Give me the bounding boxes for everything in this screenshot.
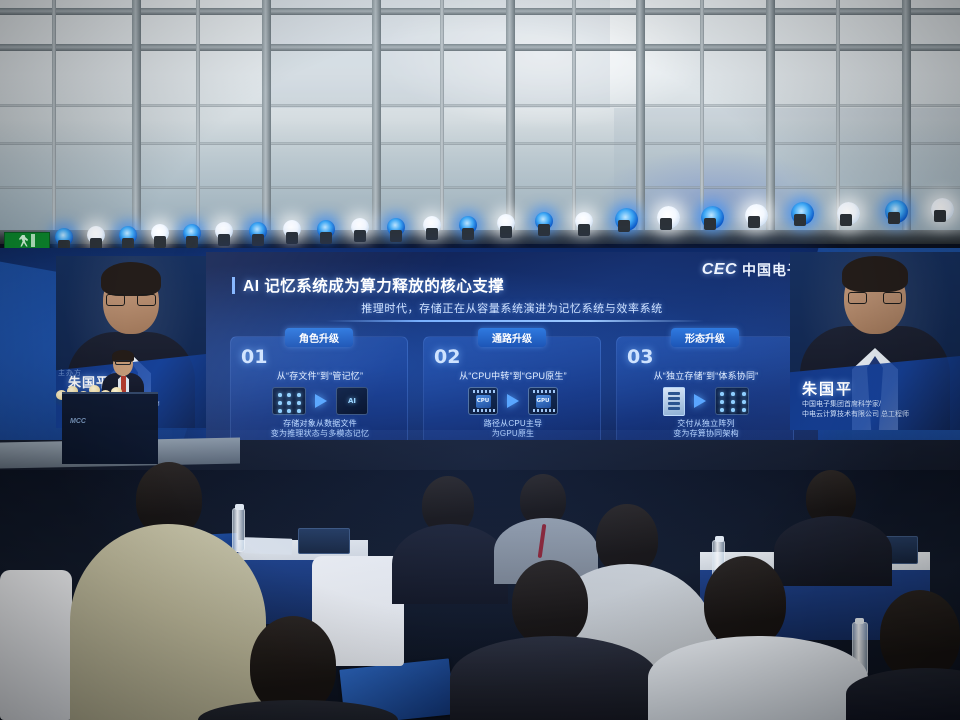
cec-logo: CEC 中国电子 (702, 260, 802, 280)
card-number: 03 (627, 346, 653, 368)
card-number: 01 (241, 346, 267, 368)
laptop (298, 528, 350, 554)
mesh-network-icon (715, 387, 749, 415)
audience-shoulders (774, 516, 892, 586)
card-number: 02 (434, 346, 460, 368)
mullion-horizontal (0, 186, 960, 189)
card-tab-label: 角色升级 (285, 328, 353, 347)
card-subtitle: 从“独立存储”到“体系协同” (617, 369, 795, 382)
running-man-icon (19, 235, 28, 247)
card-subtitle: 从“存文件”到“管记忆” (231, 369, 409, 382)
stage-light-blue (884, 198, 910, 230)
stage-light-white (282, 218, 302, 244)
mullion-horizontal (0, 104, 960, 107)
slide-cards: 角色升级 01 从“存文件”到“管记忆” AI 存储对象从数据文件变为推理状态与… (230, 336, 794, 446)
card-icon-row: AI (231, 384, 409, 418)
stage-light-white (150, 222, 170, 248)
mullion-horizontal (0, 44, 960, 51)
card-tab-label: 形态升级 (671, 328, 739, 347)
mullion-horizontal (0, 8, 960, 15)
card-tab-label: 通路升级 (478, 328, 546, 347)
stage-light-white (214, 220, 234, 246)
stage-light-blue (316, 218, 336, 244)
cpu-chip-label: CPU (476, 395, 491, 408)
audience-head (880, 590, 960, 680)
slide-card-02: 通路升级 02 从“CPU中转”到“GPU原生” CPU GPU 路径从CPU主… (423, 336, 601, 446)
stage-light-blue (248, 220, 268, 246)
stage-light-blue (118, 224, 138, 250)
speaker-hair (842, 256, 908, 292)
stage-light-white (350, 216, 370, 242)
glasses-icon (106, 294, 156, 306)
water-bottle (232, 508, 245, 552)
stage-light-white (422, 214, 442, 240)
exit-door-icon (31, 234, 35, 247)
audience-head (704, 556, 786, 648)
stage-light-white (86, 224, 106, 250)
lighting-truss (0, 196, 960, 252)
audience-shoulders (450, 636, 658, 720)
card-caption: 交付从独立阵列变为存算协同架构 (617, 419, 795, 439)
server-rack-icon (663, 387, 685, 416)
stage-light-white (574, 210, 594, 236)
truss-beam (0, 230, 960, 244)
chair-back (0, 570, 72, 720)
slide-card-01: 角色升级 01 从“存文件”到“管记忆” AI 存储对象从数据文件变为推理状态与… (230, 336, 408, 446)
speaker-hair (101, 262, 161, 296)
stage-light-white (496, 212, 516, 238)
stage-light-blue (458, 214, 478, 240)
screenshot-root: CEC 中国电子 AI 记忆系统成为算力释放的核心支撑 推理时代，存储正在从容量… (0, 0, 960, 720)
audience-shoulders (70, 524, 266, 720)
subtitle-underline (326, 320, 704, 322)
audience-shoulders (392, 524, 508, 604)
slide-title-row: AI 记忆系统成为算力释放的核心支撑 (232, 274, 504, 296)
speaker-title: 中国电子集团首席科学家/中电云计算技术有限公司 总工程师 (802, 400, 942, 420)
arrow-right-icon (507, 394, 519, 408)
mullion-horizontal (0, 142, 960, 145)
glasses-icon (848, 292, 902, 304)
stage-light-blue (386, 216, 406, 242)
grid-blocks-icon (272, 387, 306, 415)
stage-light-blue (614, 206, 640, 238)
title-accent-bar (232, 277, 235, 294)
stage-light-white (930, 196, 956, 228)
gpu-chip-label: GPU (536, 395, 551, 408)
arrow-right-icon (694, 394, 706, 408)
audience-head (512, 560, 588, 646)
slide-card-03: 形态升级 03 从“独立存储”到“体系协同” 交付从独立阵列变为存算协同架构 (616, 336, 794, 446)
gpu-chip-icon: GPU (528, 387, 558, 415)
slide-title: AI 记忆系统成为算力释放的核心支撑 (243, 274, 504, 296)
stage-light-white (656, 204, 682, 236)
stage-light-blue (700, 204, 726, 236)
podium: MCC (62, 392, 158, 464)
arrow-right-icon (315, 394, 327, 408)
speaker-name: 朱国平 (802, 378, 853, 399)
card-icon-row: CPU GPU (424, 384, 602, 418)
stage-light-white (744, 202, 770, 234)
stage-light-white (836, 200, 862, 232)
organizer-label: 主办方 (58, 368, 82, 378)
exit-sign (4, 232, 50, 249)
card-caption: 路径从CPU主导为GPU原生 (424, 419, 602, 439)
cec-logo-mark: CEC (702, 261, 737, 279)
podium-logo: MCC (70, 418, 86, 425)
stage-light-blue (790, 200, 816, 232)
card-icon-row (617, 384, 795, 418)
slide-subtitle: 推理时代，存储正在从容量系统演进为记忆系统与效率系统 (206, 300, 818, 316)
printed-paper (244, 537, 293, 555)
cpu-chip-icon: CPU (468, 387, 498, 415)
stage-light-blue (534, 210, 554, 236)
speaker-portrait-right: 朱国平 中国电子集团首席科学家/中电云计算技术有限公司 总工程师 (790, 252, 960, 430)
glass-pane (264, 0, 610, 108)
audience-shoulders (648, 636, 868, 720)
card-caption: 存储对象从数据文件变为推理状态与多模态记忆 (231, 419, 409, 439)
ai-brain-icon: AI (336, 387, 368, 415)
stage-light-blue (182, 222, 202, 248)
card-subtitle: 从“CPU中转”到“GPU原生” (424, 369, 602, 382)
